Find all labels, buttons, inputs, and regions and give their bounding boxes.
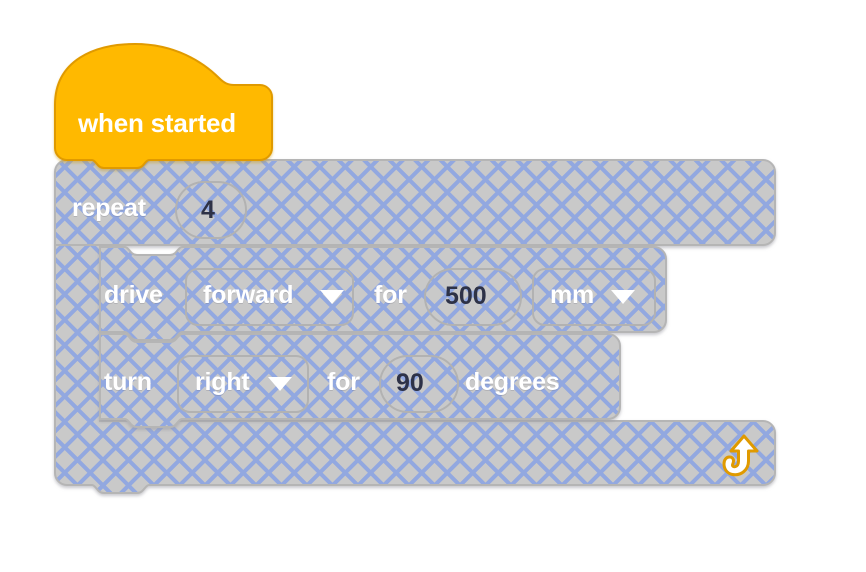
repeat-count-input[interactable] [176,182,246,238]
turn-direction-dropdown[interactable] [178,356,308,412]
turn-block[interactable] [88,334,620,419]
when-started-hat-shape[interactable] [55,44,272,168]
repeat-block-footer[interactable] [55,421,775,485]
drive-distance-input[interactable] [425,269,521,325]
turn-angle-input[interactable] [380,356,458,412]
repeat-block[interactable] [55,160,775,245]
loop-arrow-button[interactable] [722,433,764,475]
drive-direction-dropdown[interactable] [186,269,353,325]
drive-unit-dropdown[interactable] [533,269,655,325]
block-workspace[interactable]: when started repeat 4 drive forward for … [0,0,866,572]
